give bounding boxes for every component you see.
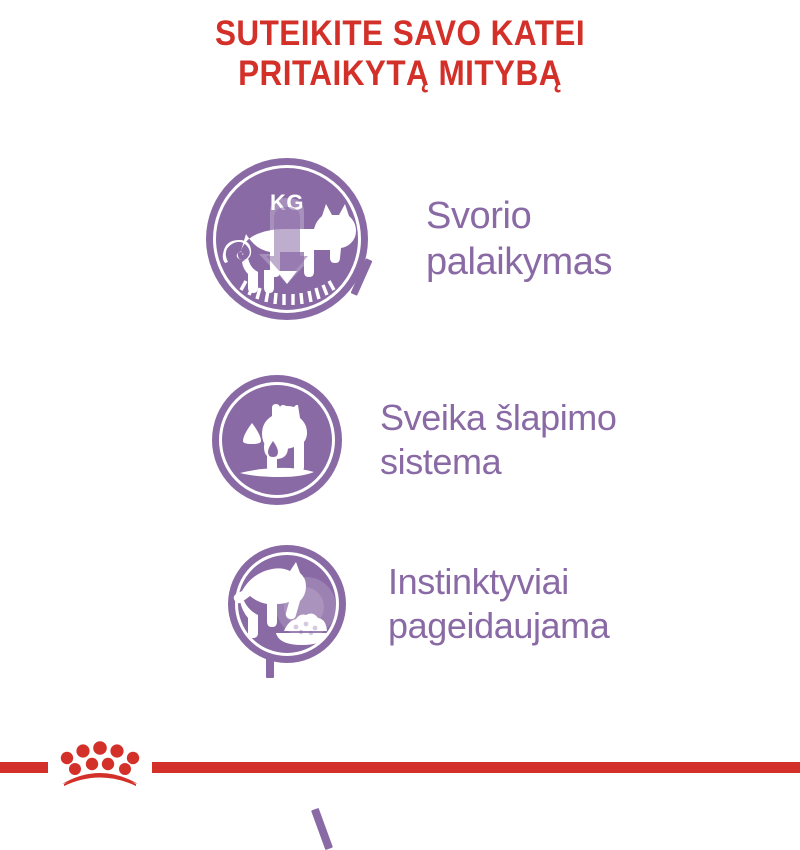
weight-maintenance-glyph: KG	[206, 158, 368, 320]
royal-canin-crown-logo	[52, 734, 148, 786]
urinary-health-icon	[212, 375, 342, 505]
urinary-health-glyph	[212, 375, 342, 505]
footer	[0, 720, 800, 800]
page-title-line-1: SUTEIKITE SAVO KATEI	[40, 14, 760, 54]
weight-maintenance-icon: KG	[206, 158, 368, 320]
connector-dash-3	[311, 808, 333, 850]
footer-rule-right	[152, 762, 800, 773]
benefit-label-weight: Svorio palaikymas	[426, 193, 612, 285]
footer-rule-left	[0, 762, 48, 773]
benefit-item-instinctive: Instinktyviai pageidaujama	[228, 545, 609, 663]
benefit-label-urinary: Sveika šlapimo sistema	[380, 396, 617, 484]
instinctive-preference-glyph	[228, 545, 346, 663]
benefits-list: KG	[0, 130, 800, 720]
page-title: SUTEIKITE SAVO KATEI PRITAIKYTĄ MITYBĄ	[40, 14, 760, 94]
benefit-item-urinary: Sveika šlapimo sistema	[212, 375, 617, 505]
page-title-line-2: PRITAIKYTĄ MITYBĄ	[40, 54, 760, 94]
instinctive-preference-icon	[228, 545, 346, 663]
benefit-item-weight: KG	[206, 158, 612, 320]
benefit-label-instinctive: Instinktyviai pageidaujama	[388, 560, 609, 648]
